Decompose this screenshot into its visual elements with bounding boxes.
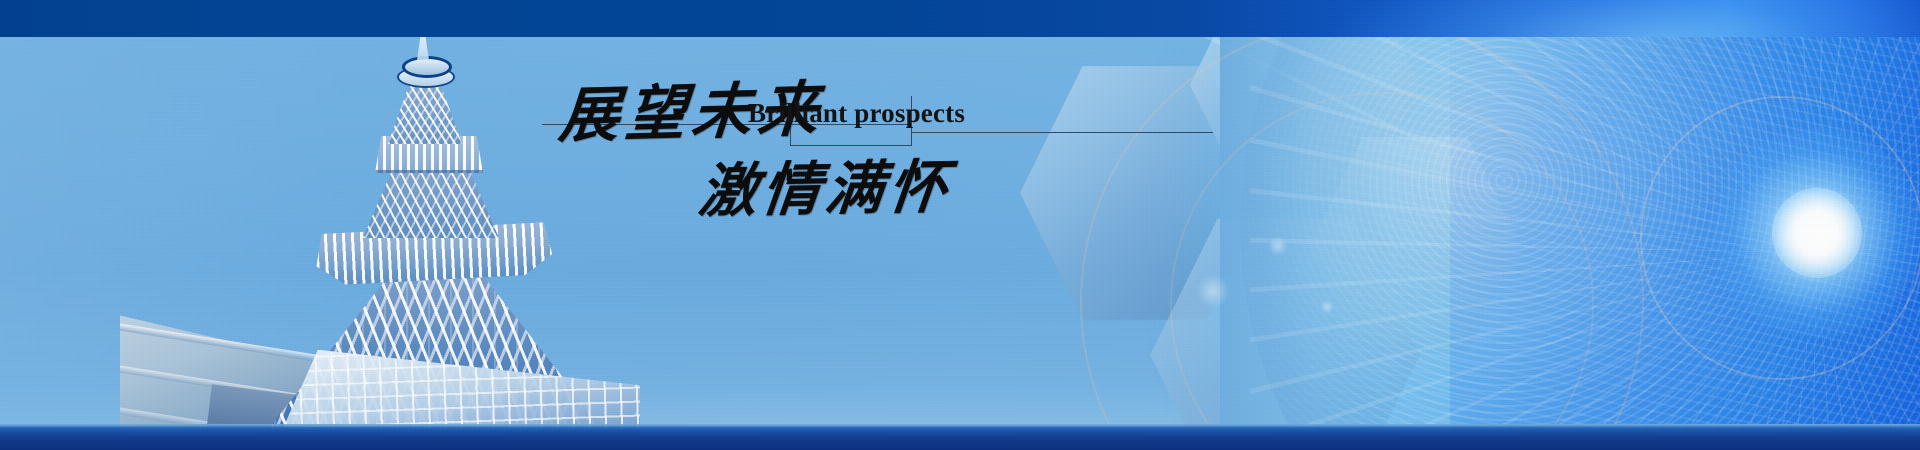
sun-core <box>1772 188 1862 278</box>
top-blue-band <box>0 0 1920 37</box>
top-band-sheen <box>1180 0 1920 37</box>
tower-structure <box>120 0 640 450</box>
bottom-blue-band <box>0 427 1920 450</box>
lens-flare-dot <box>1268 236 1288 256</box>
promotional-banner: 展望未来 Brilliant prospects 激情满怀 <box>0 0 1920 450</box>
tower-mid-lattice <box>363 168 499 238</box>
tokyo-tower-image <box>120 0 640 450</box>
globe-left-fade <box>1220 0 1450 450</box>
tower-upper-lattice <box>388 82 462 144</box>
lens-flare-dot <box>1320 300 1334 314</box>
lens-flare-dot <box>1196 274 1230 308</box>
